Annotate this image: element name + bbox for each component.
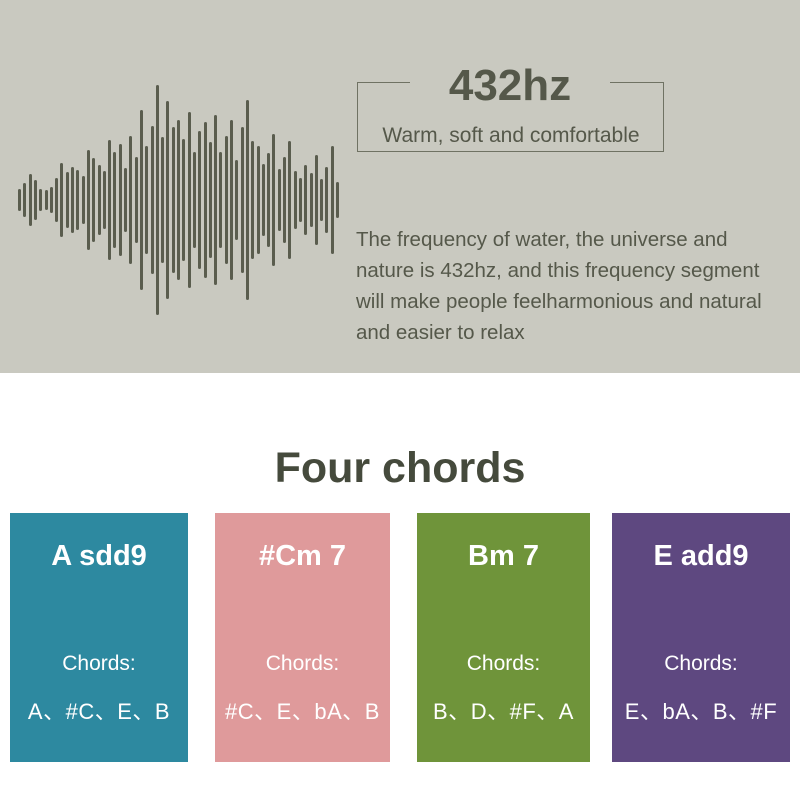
chord-card-chords-list: A、#C、E、B [2, 694, 196, 726]
waveform-bar [188, 112, 191, 288]
waveform-bar [272, 134, 275, 266]
chord-card-chords-label: Chords: [215, 652, 390, 676]
waveform-bar [325, 167, 328, 233]
chord-card[interactable]: #Cm 7 Chords: #C、E、bA、B [215, 513, 390, 762]
waveform-bar [283, 157, 286, 243]
chord-card-title: Bm 7 [417, 540, 590, 573]
waveform-bar [60, 163, 63, 237]
waveform-bar [304, 165, 307, 235]
waveform-bar [108, 140, 111, 260]
chord-card-chords-list: E、bA、B、#F [604, 694, 798, 726]
chord-card-title: A sdd9 [10, 540, 188, 573]
frequency-subtitle: Warm, soft and comfortable [350, 121, 672, 151]
waveform-bar [172, 127, 175, 273]
waveform-bar [230, 120, 233, 280]
waveform-bar [166, 101, 169, 299]
chord-card[interactable]: A sdd9 Chords: A、#C、E、B [10, 513, 188, 762]
waveform-bar [294, 171, 297, 229]
waveform-bar [182, 139, 185, 261]
waveform-bar [92, 158, 95, 242]
waveform-bar [251, 141, 254, 259]
waveform-bar [209, 142, 212, 258]
waveform-bar [151, 126, 154, 274]
waveform-bar [55, 178, 58, 222]
waveform-bar [320, 179, 323, 221]
waveform-bar [336, 182, 339, 218]
frequency-title: 432hz [410, 61, 610, 111]
waveform-bar [177, 120, 180, 280]
waveform-bar [310, 173, 313, 227]
waveform-bar [39, 189, 42, 211]
waveform-bar [129, 136, 132, 264]
waveform-bar [198, 131, 201, 269]
audio-waveform-icon [18, 75, 338, 325]
infographic-page: 432hz Warm, soft and comfortable The fre… [0, 0, 800, 800]
chord-card-title: #Cm 7 [215, 540, 390, 573]
waveform-bar [161, 137, 164, 263]
waveform-bar [278, 169, 281, 231]
waveform-bar [225, 136, 228, 264]
waveform-bar [241, 127, 244, 273]
chord-card-chords-label: Chords: [417, 652, 590, 676]
waveform-bar [257, 146, 260, 254]
waveform-bar [145, 146, 148, 254]
chord-card[interactable]: E add9 Chords: E、bA、B、#F [612, 513, 790, 762]
waveform-bar [140, 110, 143, 290]
waveform-bar [76, 170, 79, 230]
waveform-bar [331, 146, 334, 254]
waveform-bar [66, 172, 69, 228]
frequency-title-container: 432hz [410, 61, 610, 111]
chord-card-chords-label: Chords: [612, 652, 790, 676]
waveform-bar [98, 165, 101, 235]
chord-card-chords-list: #C、E、bA、B [207, 694, 398, 726]
waveform-bar [193, 152, 196, 248]
waveform-bar [119, 144, 122, 256]
waveform-bar [214, 115, 217, 285]
chords-section-heading: Four chords [0, 442, 800, 494]
waveform-bar [315, 155, 318, 245]
waveform-bar [156, 85, 159, 315]
waveform-bar [45, 190, 48, 210]
waveform-bar [29, 174, 32, 226]
frequency-text-block: 432hz Warm, soft and comfortable The fre… [350, 55, 790, 355]
frequency-info-panel: 432hz Warm, soft and comfortable The fre… [0, 0, 800, 373]
waveform-bar [18, 189, 21, 211]
waveform-bar [299, 178, 302, 222]
waveform-bar [124, 168, 127, 232]
chords-section: Four chords A sdd9 Chords: A、#C、E、B #Cm … [0, 373, 800, 800]
waveform-bar [204, 122, 207, 278]
waveform-bar [267, 153, 270, 247]
chord-card-chords-label: Chords: [10, 652, 188, 676]
frequency-description: The frequency of water, the universe and… [356, 224, 790, 348]
waveform-bar [23, 183, 26, 217]
waveform-bar [87, 150, 90, 250]
waveform-bar [219, 152, 222, 248]
waveform-bar [246, 100, 249, 300]
waveform-bar [34, 180, 37, 220]
waveform-bar [82, 176, 85, 224]
chord-cards-row: A sdd9 Chords: A、#C、E、B #Cm 7 Chords: #C… [0, 513, 800, 763]
waveform-bar [50, 187, 53, 213]
waveform-bar [288, 141, 291, 259]
waveform-bar [103, 171, 106, 229]
waveform-bar [235, 160, 238, 240]
chord-card-chords-list: B、D、#F、A [409, 694, 598, 726]
chord-card-title: E add9 [612, 540, 790, 573]
waveform-bar [71, 167, 74, 233]
waveform-bar [135, 157, 138, 243]
waveform-bar [262, 164, 265, 236]
chord-card[interactable]: Bm 7 Chords: B、D、#F、A [417, 513, 590, 762]
waveform-bar [113, 152, 116, 248]
